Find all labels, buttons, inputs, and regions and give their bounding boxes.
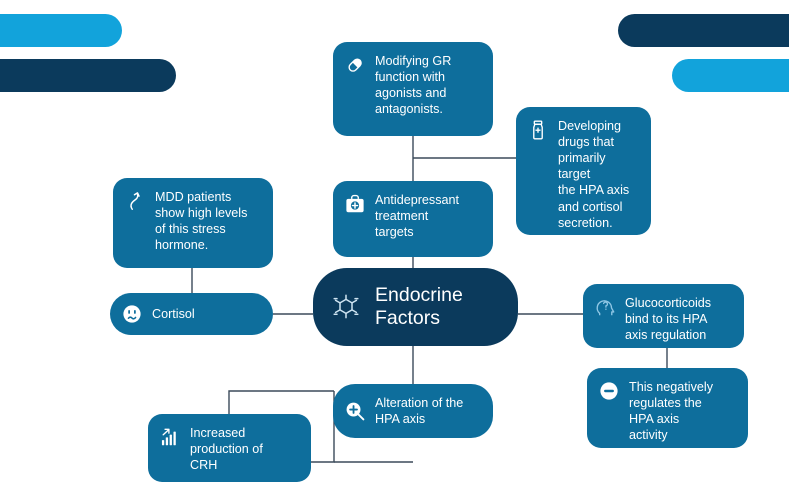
node-label: Increased production of CRH xyxy=(190,425,263,473)
node-label: This negatively regulates the HPA axis a… xyxy=(629,379,713,443)
node-label: Glucocorticoids bind to its HPA axis reg… xyxy=(625,295,711,343)
molecule-icon xyxy=(329,290,363,324)
node-cortisol[interactable]: Cortisol xyxy=(110,293,273,335)
node-label: Modifying GR function with agonists and … xyxy=(375,53,451,117)
node-mdd-patients[interactable]: MDD patients show high levels of this st… xyxy=(113,178,273,268)
diagram-canvas: Modifying GR function with agonists and … xyxy=(0,0,789,490)
node-center-endocrine-factors[interactable]: Endocrine Factors xyxy=(313,268,518,346)
bar-chart-up-icon xyxy=(159,426,181,448)
pill-capsule-icon xyxy=(344,54,366,76)
medicine-tube-icon xyxy=(527,119,549,141)
node-developing-drugs[interactable]: Developing drugs that primarily target t… xyxy=(516,107,651,235)
node-label: Alteration of the HPA axis xyxy=(375,395,463,427)
worried-face-icon xyxy=(121,303,143,325)
node-label: MDD patients show high levels of this st… xyxy=(155,189,247,253)
first-aid-kit-icon xyxy=(344,193,366,215)
node-glucocorticoids[interactable]: Glucocorticoids bind to its HPA axis reg… xyxy=(583,284,744,348)
node-label: Antidepressant treatment targets xyxy=(375,192,459,240)
minus-circle-icon xyxy=(598,380,620,402)
curved-arrow-up-icon xyxy=(124,190,146,212)
node-increased-crh[interactable]: Increased production of CRH xyxy=(148,414,311,482)
node-alteration-hpa-axis[interactable]: Alteration of the HPA axis xyxy=(333,384,493,438)
node-label: Developing drugs that primarily target t… xyxy=(558,118,639,231)
connector-crh-alteration xyxy=(229,391,334,414)
head-question-icon xyxy=(594,296,616,318)
magnifier-plus-icon xyxy=(344,400,366,422)
node-antidepressant-treatment-targets[interactable]: Antidepressant treatment targets xyxy=(333,181,493,257)
center-node-label: Endocrine Factors xyxy=(375,284,463,331)
node-label: Cortisol xyxy=(152,306,195,322)
node-modifying-gr[interactable]: Modifying GR function with agonists and … xyxy=(333,42,493,136)
node-negative-regulation[interactable]: This negatively regulates the HPA axis a… xyxy=(587,368,748,448)
